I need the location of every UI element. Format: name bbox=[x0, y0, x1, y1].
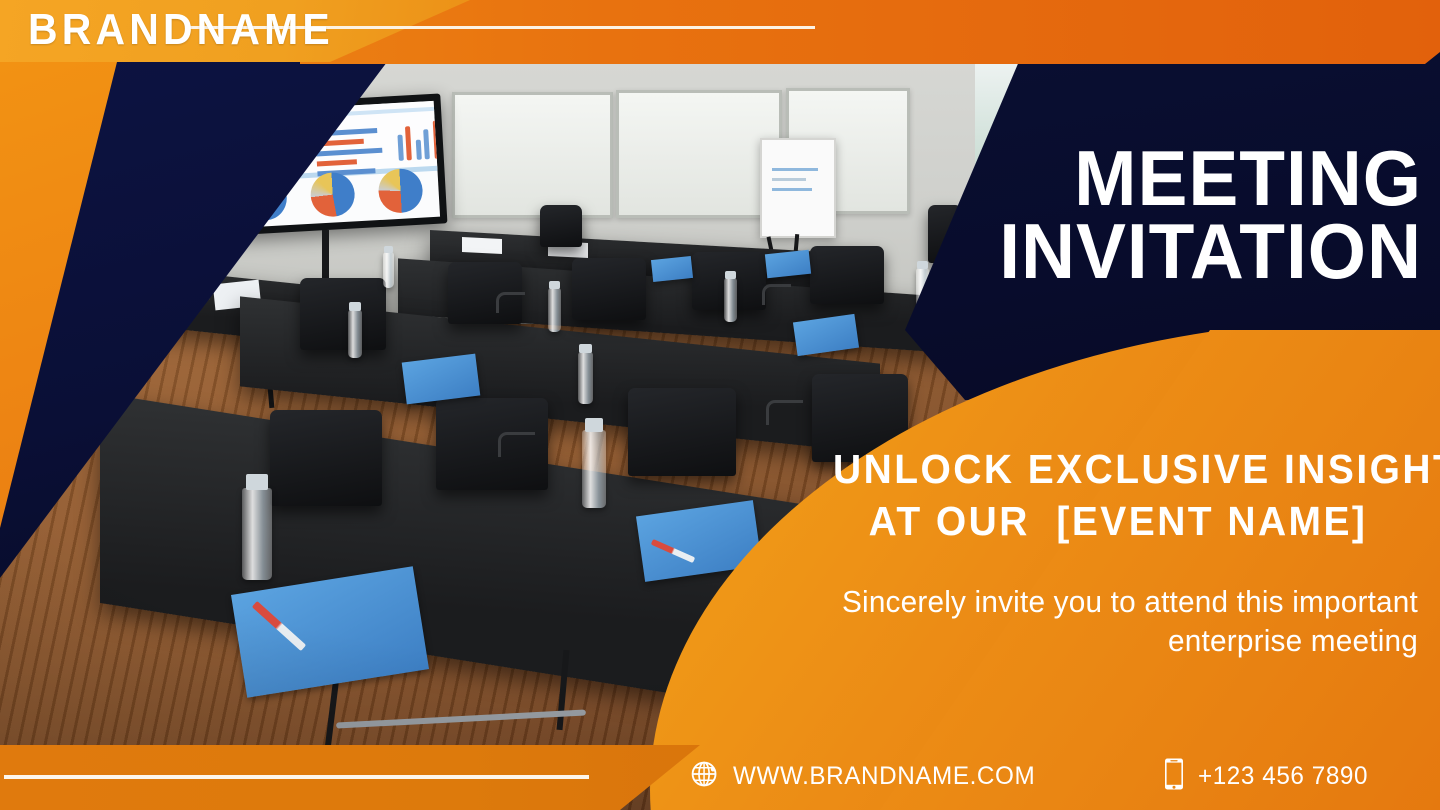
meeting-invitation-poster: BRANDNAME MEETING INVITATION UNLOCK EXCL… bbox=[0, 0, 1440, 810]
globe-icon bbox=[690, 759, 720, 794]
title-line-2: INVITATION bbox=[884, 215, 1422, 288]
phone-text: +123 456 7890 bbox=[1198, 762, 1368, 791]
headline: UNLOCK EXCLUSIVE INSIGHTS AT OUR [EVENT … bbox=[833, 444, 1403, 547]
title-line-1: MEETING bbox=[884, 142, 1422, 215]
contact-bar: WWW.BRANDNAME.COM +123 456 7890 bbox=[690, 752, 1430, 800]
website-contact[interactable]: WWW.BRANDNAME.COM bbox=[690, 759, 1045, 794]
headline-line-2: AT OUR [EVENT NAME] bbox=[833, 496, 1403, 548]
brand-name: BRANDNAME bbox=[28, 8, 334, 52]
headline-line-1: UNLOCK EXCLUSIVE INSIGHTS bbox=[833, 444, 1403, 496]
mobile-phone-icon bbox=[1163, 757, 1185, 796]
phone-contact[interactable]: +123 456 7890 bbox=[1163, 757, 1373, 796]
page-title: MEETING INVITATION bbox=[884, 142, 1422, 287]
invitation-subtext: Sincerely invite you to attend this impo… bbox=[804, 582, 1418, 660]
website-text: WWW.BRANDNAME.COM bbox=[733, 762, 1035, 791]
subtext-line-2: enterprise meeting bbox=[804, 621, 1418, 660]
footer-divider-line bbox=[4, 775, 589, 779]
subtext-line-1: Sincerely invite you to attend this impo… bbox=[804, 582, 1418, 621]
